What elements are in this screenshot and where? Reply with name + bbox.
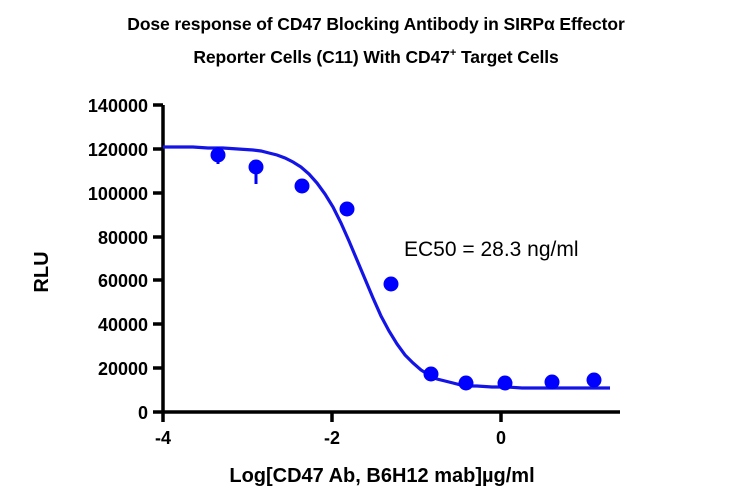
data-point-5 (384, 277, 399, 292)
data-point-2 (249, 160, 264, 175)
chart-svg: 0 20000 40000 60000 80000 100000 120000 … (0, 0, 752, 495)
data-point-9 (545, 375, 560, 390)
data-point-8 (498, 376, 513, 391)
y-tick-label-4: 80000 (98, 228, 148, 248)
ec50-annotation: EC50 = 28.3 ng/ml (404, 238, 579, 261)
data-point-3 (295, 179, 310, 194)
data-point-4 (340, 202, 355, 217)
x-tick-label-2: 0 (496, 428, 506, 448)
y-tick-label-5: 100000 (88, 184, 148, 204)
y-tick-label-3: 60000 (98, 271, 148, 291)
y-axis-tick-labels: 0 20000 40000 60000 80000 100000 120000 … (88, 96, 148, 423)
y-tick-label-6: 120000 (88, 140, 148, 160)
fit-curve (163, 147, 610, 388)
x-tick-label-1: -2 (324, 428, 340, 448)
x-axis-label: Log[CD47 Ab, B6H12 mab]µg/ml (229, 465, 534, 487)
x-tick-label-0: -4 (155, 428, 171, 448)
data-point-1 (211, 148, 226, 163)
y-tick-label-1: 20000 (98, 359, 148, 379)
x-axis-tick-labels: -4 -2 0 (155, 428, 506, 448)
plot-area: 0 20000 40000 60000 80000 100000 120000 … (0, 0, 752, 495)
chart-page: Dose response of CD47 Blocking Antibody … (0, 0, 752, 495)
data-point-10 (587, 373, 602, 388)
y-tick-label-7: 140000 (88, 96, 148, 116)
y-axis-label: RLU (31, 251, 53, 292)
data-point-7 (459, 376, 474, 391)
data-point-6 (424, 367, 439, 382)
y-tick-label-0: 0 (138, 403, 148, 423)
y-tick-label-2: 40000 (98, 315, 148, 335)
